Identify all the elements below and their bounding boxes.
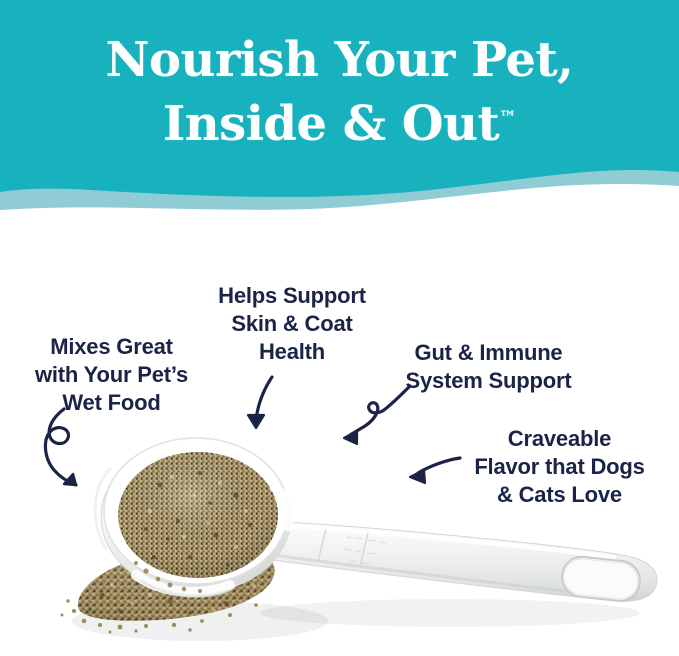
promo-graphic: Nourish Your Pet, Inside & Out™ Mixes Gr… (0, 0, 679, 656)
page-title: Nourish Your Pet, Inside & Out™ (0, 28, 679, 157)
scoop-handle (254, 521, 657, 603)
callout-label-gut-immune-support: Gut & Immune System Support (386, 339, 591, 395)
powder-in-scoop (118, 452, 278, 578)
callout-label-skin-coat-health: Helps Support Skin & Coat Health (196, 282, 388, 366)
trademark-symbol: ™ (499, 108, 516, 128)
header-banner: Nourish Your Pet, Inside & Out™ (0, 0, 679, 215)
product-image-scoop-with-powder (50, 425, 679, 656)
page-title-line-1: Nourish Your Pet, (106, 32, 574, 88)
page-title-line-2: Inside & Out (163, 96, 499, 152)
callout-label-mixes-great: Mixes Great with Your Pet’s Wet Food (14, 333, 209, 417)
handle-shadow (260, 599, 640, 627)
